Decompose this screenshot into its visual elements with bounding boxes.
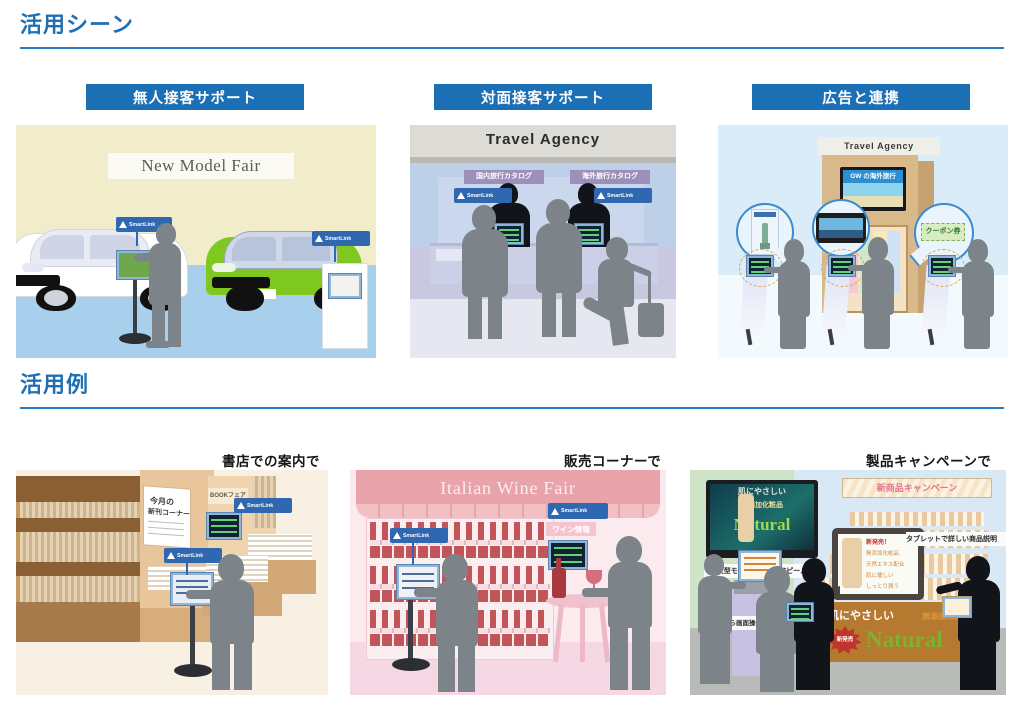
monitor-line-1: 肌にやさしい xyxy=(714,486,810,498)
scene-panel-storefront-ads: Travel Agency GW の海外旅行 クーポン券 xyxy=(718,125,1008,358)
kiosk-tablet-3[interactable] xyxy=(928,255,956,277)
callout-tablet-label: タブレットで詳しい商品説明 xyxy=(906,533,1006,547)
kiosk-tablet[interactable] xyxy=(170,572,214,606)
smartlink-tag-kiosk: SmartLink xyxy=(390,528,448,543)
smartlink-triangle-icon xyxy=(597,192,605,199)
badge-unmanned-support[interactable]: 無人接客サポート xyxy=(86,84,304,110)
customer-head xyxy=(442,554,468,582)
staff-tablet[interactable] xyxy=(942,596,972,618)
customer-head-2 xyxy=(546,199,570,225)
tablet-line-1: 新発売！ xyxy=(866,537,890,546)
wine-fair-headline: Italian Wine Fair xyxy=(356,476,660,500)
shopper-leg-1 xyxy=(212,640,230,690)
kiosk-tablet-1[interactable] xyxy=(746,255,774,277)
smartlink-label: SmartLink xyxy=(607,193,633,199)
poster-line-1: 今月の xyxy=(150,495,174,508)
storefront-monitor-text: GW の海外旅行 xyxy=(843,170,903,183)
shopper-arm xyxy=(186,590,218,599)
statue-icon xyxy=(762,223,768,245)
smartlink-tag-left: SmartLink xyxy=(454,188,512,203)
customer-leg-2b xyxy=(562,289,576,337)
badge-ad-linkage[interactable]: 広告と連携 xyxy=(752,84,970,110)
shopper-legs-1 xyxy=(780,313,806,349)
shopper-legs-2 xyxy=(864,311,890,349)
staff-leg-2 xyxy=(632,624,650,690)
table-leg-2 xyxy=(580,604,585,662)
badge-facetoface-support[interactable]: 対面接客サポート xyxy=(434,84,652,110)
customer-arm xyxy=(414,588,444,597)
sign-overseas-label: 海外旅行カタログ xyxy=(570,170,650,184)
customer-leg-2 xyxy=(458,642,475,692)
smartlink-label: SmartLink xyxy=(129,222,155,228)
smartlink-tag-wall: SmartLink xyxy=(548,503,608,519)
example-panel-product-campaign: 肌にやさしい 無添加化粧品 Natural 大型モニターで商品アピール 新商品キ… xyxy=(690,470,1006,695)
wall-tablet[interactable] xyxy=(548,540,588,570)
page-title: 活用シーン xyxy=(20,14,134,36)
product-row-1 xyxy=(850,512,984,526)
monitor-line-2: 無添加化粧品 xyxy=(714,500,810,511)
showroom-headline: New Model Fair xyxy=(108,155,294,177)
person-legs-2 xyxy=(760,652,794,692)
campaign-banner-label: 新商品キャンペーン xyxy=(842,480,992,496)
shopper-torso xyxy=(210,580,254,644)
shopper-head-1 xyxy=(784,239,804,263)
car-white-window-front xyxy=(40,235,84,259)
customer-head-1 xyxy=(472,205,496,231)
customer-leg-1b xyxy=(488,293,502,339)
tablet-line-3: 天然エキス配合 xyxy=(866,560,904,568)
person-legs-1 xyxy=(700,632,730,684)
smartlink-tag-upper: SmartLink xyxy=(234,498,292,513)
staff-torso xyxy=(608,562,652,628)
books-row-3 xyxy=(20,576,140,602)
wine-bottle xyxy=(552,568,566,598)
smartlink-tag-right: SmartLink xyxy=(594,188,652,203)
caption-product-campaign: 製品キャンペーンで xyxy=(866,450,991,470)
person-leg-right xyxy=(168,301,181,347)
car-green-window-front xyxy=(232,237,276,261)
staff-arm xyxy=(582,588,614,597)
kiosk-pole xyxy=(190,598,195,670)
smartlink-label: SmartLink xyxy=(325,236,351,242)
smartlink-triangle-icon xyxy=(167,552,175,559)
caption-sales-corner: 販売コーナーで xyxy=(564,450,661,470)
display-line-1: 肌にやさしい xyxy=(828,608,920,624)
customer-leg-1 xyxy=(438,642,455,692)
smartlink-label: SmartLink xyxy=(561,508,587,514)
example-panel-wine-corner: Italian Wine Fair SmartLink xyxy=(350,470,666,695)
staff-legs xyxy=(960,640,996,690)
shopper-leg-2 xyxy=(234,640,252,690)
travel-agency-headline: Travel Agency xyxy=(410,131,676,148)
staff-head xyxy=(616,536,642,564)
smartlink-triangle-icon xyxy=(237,502,245,509)
books-row-1 xyxy=(20,502,140,518)
smartlink-tag-right: SmartLink xyxy=(312,231,370,246)
staff-head xyxy=(966,556,990,582)
kiosk-base xyxy=(392,658,430,671)
smartlink-label: SmartLink xyxy=(467,193,493,199)
sign-domestic-label: 国内旅行カタログ xyxy=(464,170,544,184)
traveler-head xyxy=(606,237,628,261)
shopper-arm-2 xyxy=(848,265,868,271)
caption-bookstore: 書店での案内で xyxy=(222,450,320,470)
smartlink-triangle-icon xyxy=(551,508,559,515)
person-legs-3 xyxy=(796,640,830,690)
example-panel-bookstore: 今月の 新刊コーナー BOOKフェア SmartLink xyxy=(16,470,328,695)
shopper-head-3 xyxy=(968,239,988,263)
books-row-2 xyxy=(20,532,140,562)
shopper-head xyxy=(218,554,244,582)
scene-panel-travel-counter: Travel Agency 国内旅行カタログ 海外旅行カタログ xyxy=(410,125,676,358)
kiosk-pole-left xyxy=(133,275,137,339)
handheld-tablet[interactable] xyxy=(786,602,814,622)
person-head-3 xyxy=(802,558,826,584)
smartlink-triangle-icon xyxy=(119,221,127,228)
smartlink-label: SmartLink xyxy=(177,553,203,559)
shopper-head-2 xyxy=(868,237,888,261)
shelf-base xyxy=(16,602,144,642)
suitcase xyxy=(638,303,664,337)
kiosk-tablet-right[interactable] xyxy=(328,273,362,299)
section-rule-examples xyxy=(20,407,1004,409)
shelf-rail-3 xyxy=(16,562,144,576)
monitor-line-3: Natural xyxy=(714,514,810,536)
customer-leg-1a xyxy=(468,293,482,339)
smartlink-label: SmartLink xyxy=(403,533,429,539)
awning-scallop xyxy=(356,504,660,518)
suitcase-handle xyxy=(648,275,651,305)
wine-info-label: ワイン情報 xyxy=(546,523,596,537)
tablet-line-2: 無添加化粧品 xyxy=(866,549,899,557)
car-green-wheel-front xyxy=(226,285,264,311)
person-head-1 xyxy=(704,554,724,576)
smartlink-triangle-icon xyxy=(393,532,401,539)
storefront-headline: Travel Agency xyxy=(818,139,940,153)
kiosk-base xyxy=(174,664,212,677)
person-foot xyxy=(146,341,170,348)
shopper-legs-3 xyxy=(964,313,990,349)
section-rule-scenes xyxy=(20,47,1004,49)
person-head-2 xyxy=(764,566,790,594)
smartlink-triangle-icon xyxy=(315,235,323,242)
car-white-headlight xyxy=(22,263,44,272)
scene-panel-showroom: New Model Fair SmartLink xyxy=(16,125,376,358)
shelf-tablet[interactable] xyxy=(206,512,242,540)
tablet-callout-product xyxy=(842,538,862,588)
car-white-hub-front xyxy=(44,290,68,306)
coupon-label: クーポン券 xyxy=(921,225,965,239)
smartlink-tag-kiosk: SmartLink xyxy=(164,548,222,563)
statue-card-header xyxy=(754,212,776,217)
tablet-line-4: 肌に優しい xyxy=(866,571,894,579)
shopper-arm-3 xyxy=(948,267,968,273)
slide-root: 活用シーン 無人接客サポート 対面接客サポート 広告と連携 New Model … xyxy=(0,0,1024,723)
film-photo xyxy=(819,218,863,238)
monitor-product-bottle xyxy=(738,494,754,542)
shelf-rail-2 xyxy=(16,518,144,532)
customer-body-2 xyxy=(536,223,582,293)
section-heading-examples: 活用例 xyxy=(20,374,89,396)
wine-bottle-neck xyxy=(556,558,561,570)
shelf-rail-1 xyxy=(16,476,144,502)
section-heading-scenes: 活用シーン xyxy=(20,14,134,36)
tablet-line-5: しっとり潤う xyxy=(866,582,899,590)
car-green-headlight xyxy=(212,263,236,272)
section-title-examples: 活用例 xyxy=(20,374,89,396)
smartlink-label: SmartLink xyxy=(247,503,273,509)
customer-leg-2a xyxy=(542,289,556,337)
customer-body-1 xyxy=(462,229,508,297)
kiosk-pole xyxy=(408,596,413,664)
smartlink-triangle-icon xyxy=(457,192,465,199)
shopper-arm-1 xyxy=(764,267,784,273)
wine-glass-bowl xyxy=(586,570,602,584)
person-head xyxy=(156,223,176,245)
staff-leg-1 xyxy=(610,624,628,690)
person-arm-1 xyxy=(724,582,746,589)
